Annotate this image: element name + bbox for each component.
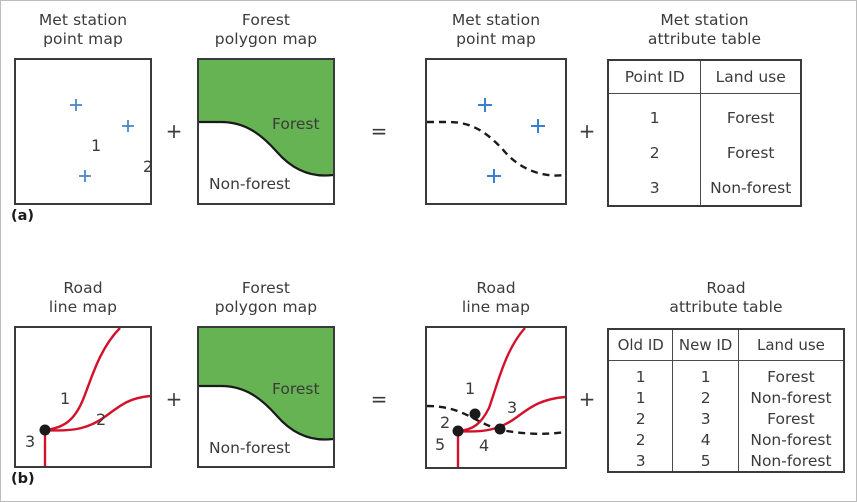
- road-label-1: 1: [60, 389, 70, 408]
- cell-land-use: Non-forest: [738, 387, 844, 408]
- caption-line-2: polygon map: [197, 298, 335, 317]
- column-header-land-use: Land use: [738, 329, 844, 361]
- caption-line-2: line map: [425, 298, 567, 317]
- table-row[interactable]: 2 3 Forest: [608, 408, 844, 429]
- boundary-intersection-node-2: [495, 424, 506, 435]
- result-point-map-svg: [427, 60, 565, 203]
- operator-plus-b-1: +: [161, 387, 187, 411]
- operator-plus-b-2: +: [574, 387, 600, 411]
- forest-label-b: Forest: [272, 380, 320, 398]
- cell-new-id: 5: [673, 450, 738, 472]
- road-attribute-table[interactable]: Old ID New ID Land use 1 1 Forest 1 2 No…: [607, 328, 845, 473]
- operator-equals-b: =: [366, 387, 392, 411]
- table-row[interactable]: 3 Non-forest: [608, 170, 801, 206]
- cell-old-id: 1: [608, 387, 673, 408]
- result-road-map-svg: [427, 328, 565, 467]
- cell-new-id: 2: [673, 387, 738, 408]
- point-label-2: 2: [143, 157, 152, 176]
- cell-land-use: Forest: [701, 135, 801, 170]
- caption-line-1: Forest: [197, 11, 335, 30]
- point-map-svg: [16, 60, 150, 203]
- caption-line-2: attribute table: [607, 298, 845, 317]
- caption-met-station-point-map-input: Met station point map: [14, 11, 152, 49]
- column-header-land-use: Land use: [701, 60, 801, 94]
- caption-road-line-map-result: Road line map: [425, 279, 567, 317]
- point-label-1: 1: [91, 136, 101, 155]
- caption-met-station-point-map-result: Met station point map: [425, 11, 567, 49]
- road-result-label-4: 4: [479, 436, 489, 455]
- panel-label-b: (b): [11, 471, 35, 487]
- cell-land-use: Forest: [738, 408, 844, 429]
- table-row[interactable]: 3 5 Non-forest: [608, 450, 844, 472]
- cell-land-use: Non-forest: [701, 170, 801, 206]
- cell-point-id: 1: [608, 100, 701, 135]
- cell-new-id: 3: [673, 408, 738, 429]
- nonforest-label-b: Non-forest: [209, 439, 290, 457]
- cell-land-use: Forest: [701, 100, 801, 135]
- operator-plus-a-2: +: [574, 119, 600, 143]
- caption-line-2: line map: [14, 298, 152, 317]
- caption-line-1: Road: [607, 279, 845, 298]
- panel-label-a: (a): [11, 208, 34, 224]
- road-junction-node: [40, 425, 51, 436]
- met-station-point-map-input[interactable]: 1 2 3: [14, 58, 152, 205]
- forest-boundary-dashed: [427, 122, 565, 176]
- road-label-3: 3: [25, 432, 35, 451]
- operator-equals-a: =: [366, 119, 392, 143]
- table-row[interactable]: 2 4 Non-forest: [608, 429, 844, 450]
- cell-old-id: 3: [608, 450, 673, 472]
- table-header-row: Point ID Land use: [608, 60, 801, 94]
- column-header-point-id: Point ID: [608, 60, 701, 94]
- road-result-label-2: 2: [440, 413, 450, 432]
- column-header-new-id: New ID: [673, 329, 738, 361]
- forest-label-a: Forest: [272, 115, 320, 133]
- cell-land-use: Non-forest: [738, 450, 844, 472]
- road-line-map-svg: [16, 328, 150, 466]
- caption-line-2: point map: [425, 30, 567, 49]
- figure-container: Met station point map 1 2 3 (a) + Forest…: [0, 0, 857, 502]
- cell-old-id: 2: [608, 408, 673, 429]
- caption-line-1: Road: [14, 279, 152, 298]
- point-markers: [70, 99, 134, 182]
- met-station-attribute-table[interactable]: Point ID Land use 1 Forest 2 Forest 3 No…: [607, 59, 802, 207]
- road-result-label-1: 1: [465, 379, 475, 398]
- nonforest-label-a: Non-forest: [209, 175, 290, 193]
- cell-old-id: 2: [608, 429, 673, 450]
- road-result-label-5: 5: [435, 435, 445, 454]
- table-row[interactable]: 1 1 Forest: [608, 366, 844, 387]
- caption-line-1: Met station: [607, 11, 802, 30]
- operator-plus-a-1: +: [161, 119, 187, 143]
- cell-land-use: Forest: [738, 366, 844, 387]
- cell-old-id: 1: [608, 366, 673, 387]
- road-label-2: 2: [96, 410, 106, 429]
- road-result-label-3: 3: [507, 398, 517, 417]
- road-line-map-result[interactable]: 1 2 3 4 5: [425, 326, 567, 469]
- forest-polygon-map-b[interactable]: Forest Non-forest: [197, 326, 335, 468]
- caption-forest-polygon-map-a: Forest polygon map: [197, 11, 335, 49]
- point-markers: [478, 98, 545, 183]
- table-row[interactable]: 1 Forest: [608, 100, 801, 135]
- caption-line-1: Met station: [425, 11, 567, 30]
- road-junction-node: [453, 426, 464, 437]
- cell-land-use: Non-forest: [738, 429, 844, 450]
- caption-road-attribute-table: Road attribute table: [607, 279, 845, 317]
- cell-point-id: 2: [608, 135, 701, 170]
- caption-forest-polygon-map-b: Forest polygon map: [197, 279, 335, 317]
- forest-polygon-map-a[interactable]: Forest Non-forest: [197, 58, 335, 205]
- table-row[interactable]: 2 Forest: [608, 135, 801, 170]
- caption-road-line-map-input: Road line map: [14, 279, 152, 317]
- column-header-old-id: Old ID: [608, 329, 673, 361]
- caption-line-1: Met station: [14, 11, 152, 30]
- table-header-row: Old ID New ID Land use: [608, 329, 844, 361]
- caption-met-station-attribute-table: Met station attribute table: [607, 11, 802, 49]
- cell-new-id: 4: [673, 429, 738, 450]
- table-row[interactable]: 1 2 Non-forest: [608, 387, 844, 408]
- cell-point-id: 3: [608, 170, 701, 206]
- road-line-map-input[interactable]: 1 2 3: [14, 326, 152, 468]
- caption-line-1: Road: [425, 279, 567, 298]
- caption-line-2: point map: [14, 30, 152, 49]
- caption-line-2: polygon map: [197, 30, 335, 49]
- boundary-intersection-node-1: [470, 409, 481, 420]
- caption-line-2: attribute table: [607, 30, 802, 49]
- caption-line-1: Forest: [197, 279, 335, 298]
- cell-new-id: 1: [673, 366, 738, 387]
- met-station-point-map-result[interactable]: [425, 58, 567, 205]
